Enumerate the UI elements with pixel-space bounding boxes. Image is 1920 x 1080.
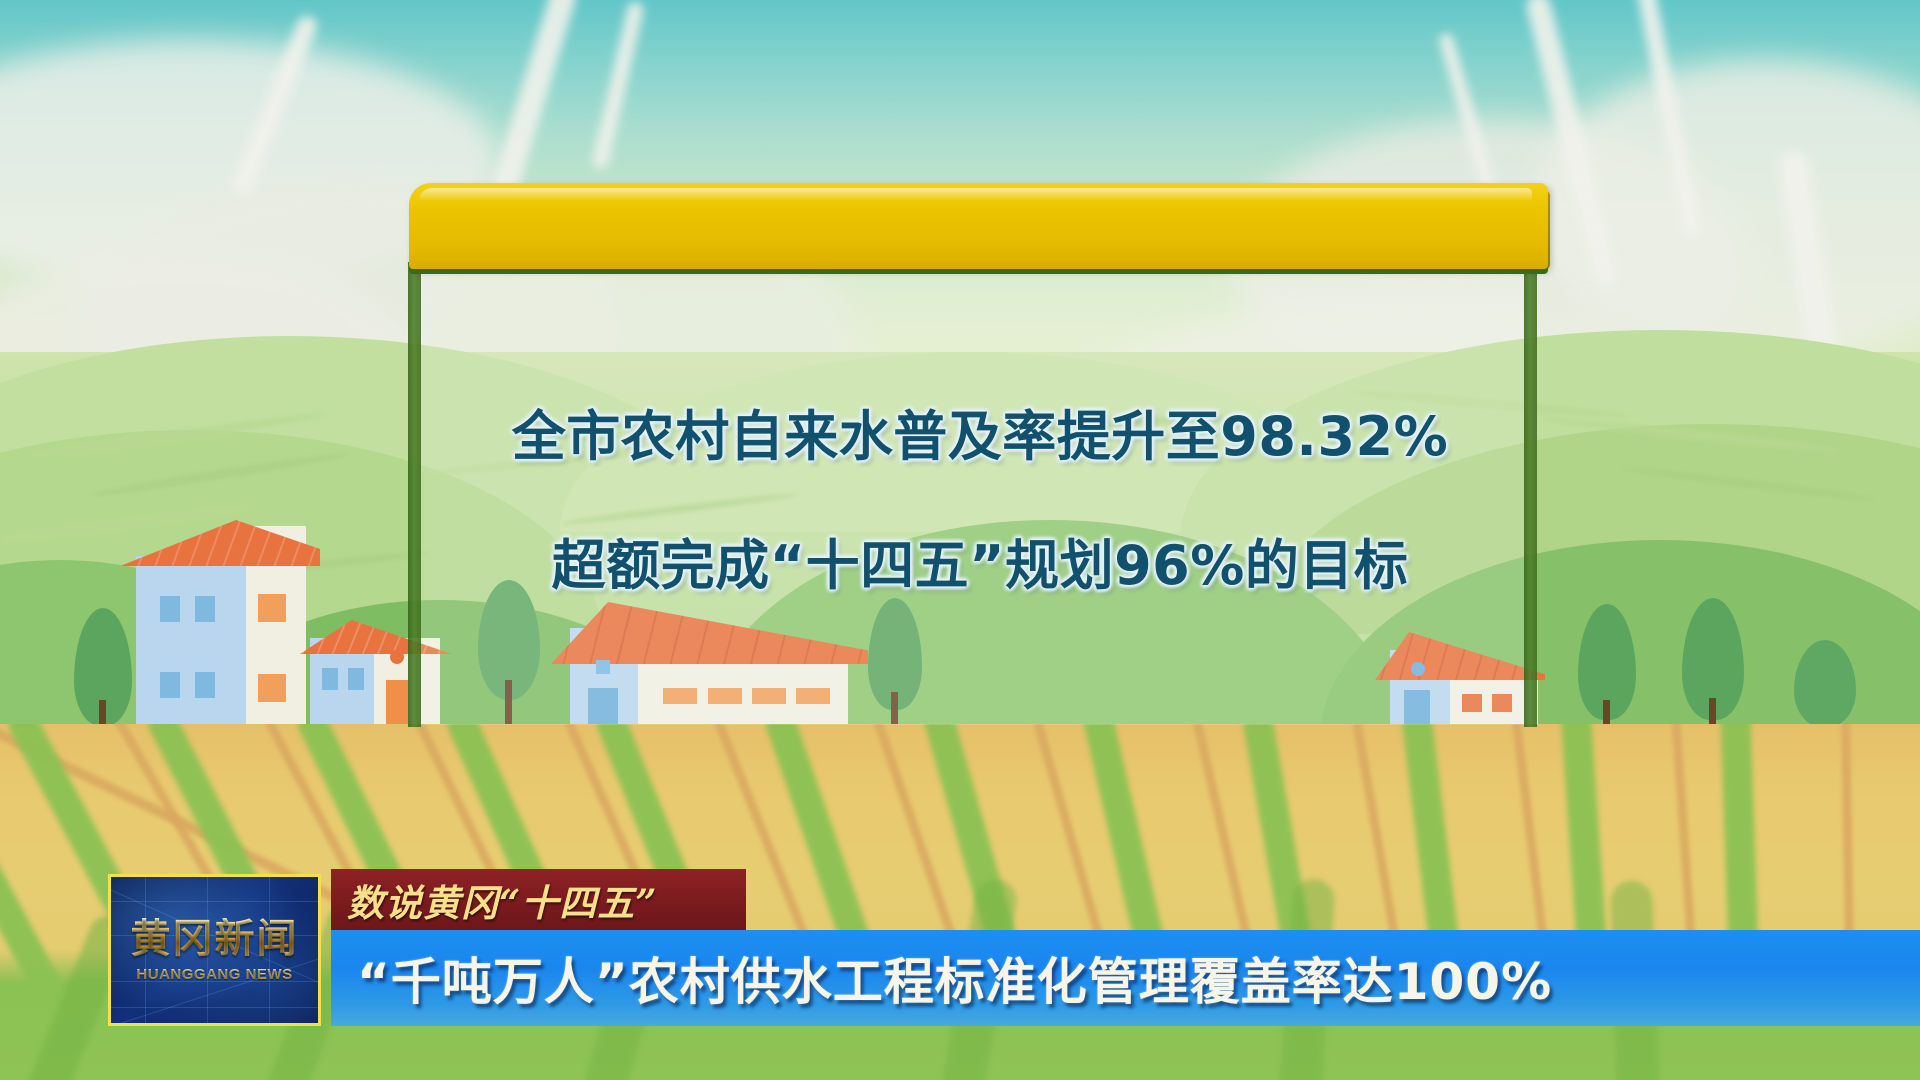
channel-logo: 黄冈新闻 HUANGGANG NEWS [108, 874, 321, 1026]
headline-line-1: 全市农村自来水普及率提升至98.32% [410, 392, 1550, 471]
sign-frame-post-right [1524, 262, 1537, 727]
broadcast-frame: 全市农村自来水普及率提升至98.32% 超额完成“十四五”规划96%的目标 数说… [0, 0, 1920, 1080]
signboard-header-bar [409, 183, 1548, 269]
ticker-headline-text: “千吨万人”农村供水工程标准化管理覆盖率达100% [357, 942, 1552, 1014]
channel-logo-name-cn: 黄冈新闻 [131, 918, 299, 960]
sign-frame-panel [413, 265, 1537, 725]
headline-line-2: 超额完成“十四五”规划96%的目标 [410, 521, 1550, 600]
program-title-band: 数说黄冈“十四五” [331, 869, 746, 930]
ticker-band: “千吨万人”农村供水工程标准化管理覆盖率达100% [331, 930, 1920, 1026]
channel-logo-name-en: HUANGGANG NEWS [136, 966, 292, 983]
sign-frame-post-left [408, 262, 421, 727]
program-title-text: 数说黄冈“十四五” [347, 873, 658, 927]
